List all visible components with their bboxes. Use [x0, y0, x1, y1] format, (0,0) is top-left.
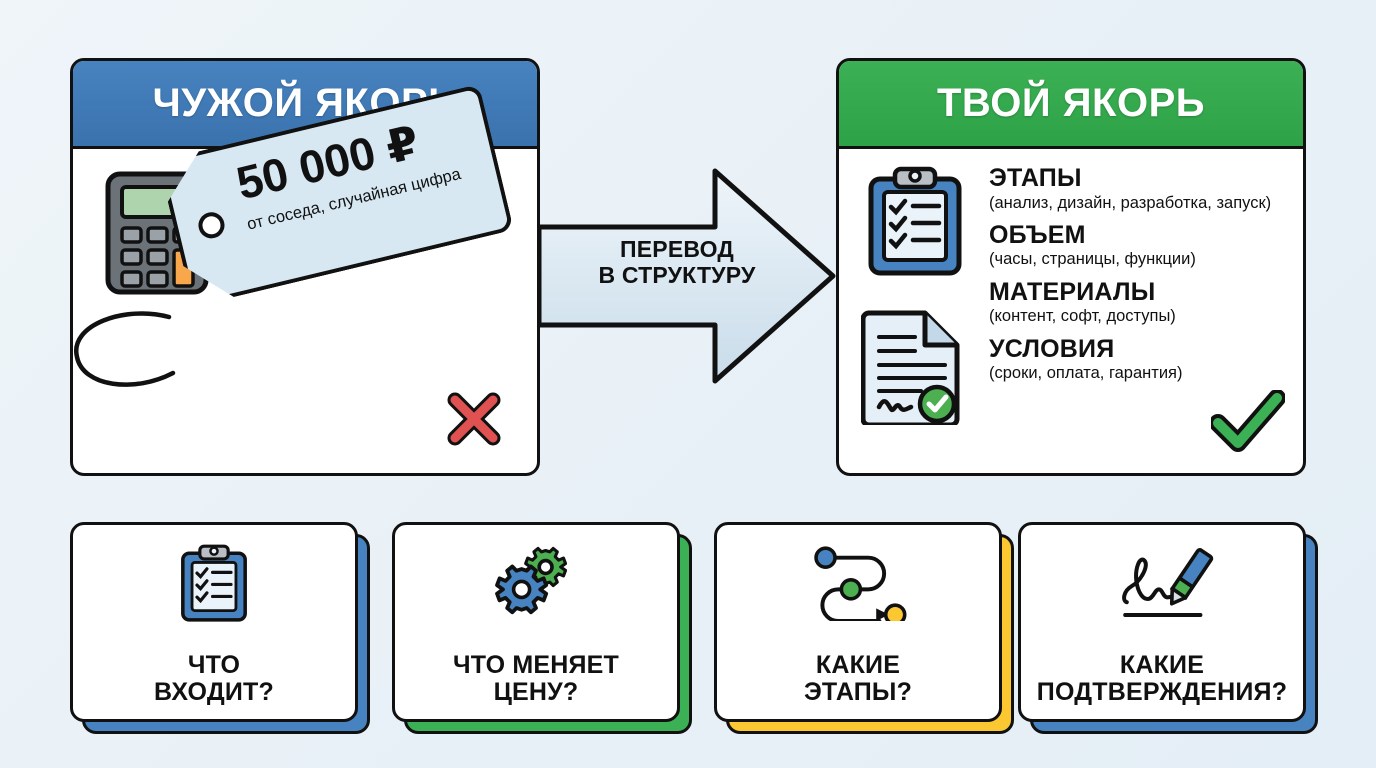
benefit-list: ЭТАПЫ (анализ, дизайн, разработка, запус…: [989, 165, 1295, 393]
list-item-sub: (часы, страницы, функции): [989, 250, 1295, 268]
right-card-header: ТВОЙ ЯКОРЬ: [839, 61, 1303, 149]
list-item-title: ОБЪЕМ: [989, 222, 1295, 249]
right-card-body: ЭТАПЫ (анализ, дизайн, разработка, запус…: [839, 149, 1303, 473]
list-item-title: МАТЕРИАЛЫ: [989, 279, 1295, 306]
card-label-line1: КАКИЕ: [804, 652, 912, 679]
infographic-stage: ЧУЖОЙ ЯКОРЬ: [0, 0, 1376, 768]
list-item-title: УСЛОВИЯ: [989, 336, 1295, 363]
card-face: КАКИЕ ПОДТВЕРЖДЕНИЯ?: [1018, 522, 1306, 722]
list-item-sub: (анализ, дизайн, разработка, запуск): [989, 194, 1295, 212]
price-tag-hole: [196, 210, 227, 241]
list-item: ЭТАПЫ (анализ, дизайн, разработка, запус…: [989, 165, 1295, 212]
list-item-sub: (сроки, оплата, гарантия): [989, 364, 1295, 382]
signature-pen-icon: [1106, 541, 1218, 625]
arrow-label: ПЕРЕВОД В СТРУКТУРУ: [572, 236, 782, 288]
card-label: КАКИЕ ПОДТВЕРЖДЕНИЯ?: [1031, 652, 1293, 705]
card-label: ЧТО ВХОДИТ?: [148, 652, 280, 705]
question-card-stages[interactable]: КАКИЕ ЭТАПЫ?: [714, 522, 1002, 722]
card-label-line1: ЧТО: [154, 652, 274, 679]
clipboard-icon: [867, 165, 963, 282]
card-face: ЧТО МЕНЯЕТ ЦЕНУ?: [392, 522, 680, 722]
list-item: УСЛОВИЯ (сроки, оплата, гарантия): [989, 336, 1295, 383]
flow-path-icon: [806, 541, 910, 625]
card-label-line1: ЧТО МЕНЯЕТ: [453, 652, 619, 679]
check-icon: [1211, 390, 1285, 457]
question-card-price-drivers[interactable]: ЧТО МЕНЯЕТ ЦЕНУ?: [392, 522, 680, 722]
card-label-line2: ВХОДИТ?: [154, 679, 274, 706]
list-item: МАТЕРИАЛЫ (контент, софт, доступы): [989, 279, 1295, 326]
list-item-sub: (контент, софт, доступы): [989, 307, 1295, 325]
left-card-body: 50 000 ₽ от соседа, случайная цифра: [73, 149, 537, 473]
tag-string: [73, 299, 193, 409]
card-label: ЧТО МЕНЯЕТ ЦЕНУ?: [447, 652, 625, 705]
right-comparison-card: ТВОЙ ЯКОРЬ: [836, 58, 1306, 476]
arrow-label-line2: В СТРУКТУРУ: [572, 262, 782, 288]
question-card-what-included[interactable]: ЧТО ВХОДИТ?: [70, 522, 358, 722]
clipboard-icon: [180, 541, 248, 625]
document-signed-icon: [861, 307, 965, 430]
cross-icon: [443, 388, 505, 455]
question-card-confirmations[interactable]: КАКИЕ ПОДТВЕРЖДЕНИЯ?: [1018, 522, 1306, 722]
card-label-line2: ПОДТВЕРЖДЕНИЯ?: [1037, 679, 1287, 706]
card-face: КАКИЕ ЭТАПЫ?: [714, 522, 1002, 722]
arrow-label-line1: ПЕРЕВОД: [572, 236, 782, 262]
gears-icon: [488, 541, 584, 625]
card-label-line1: КАКИЕ: [1037, 652, 1287, 679]
card-label: КАКИЕ ЭТАПЫ?: [798, 652, 918, 705]
left-comparison-card: ЧУЖОЙ ЯКОРЬ: [70, 58, 540, 476]
card-label-line2: ЦЕНУ?: [453, 679, 619, 706]
list-item-title: ЭТАПЫ: [989, 165, 1295, 192]
right-card-title: ТВОЙ ЯКОРЬ: [937, 81, 1205, 126]
card-face: ЧТО ВХОДИТ?: [70, 522, 358, 722]
card-label-line2: ЭТАПЫ?: [804, 679, 912, 706]
list-item: ОБЪЕМ (часы, страницы, функции): [989, 222, 1295, 269]
